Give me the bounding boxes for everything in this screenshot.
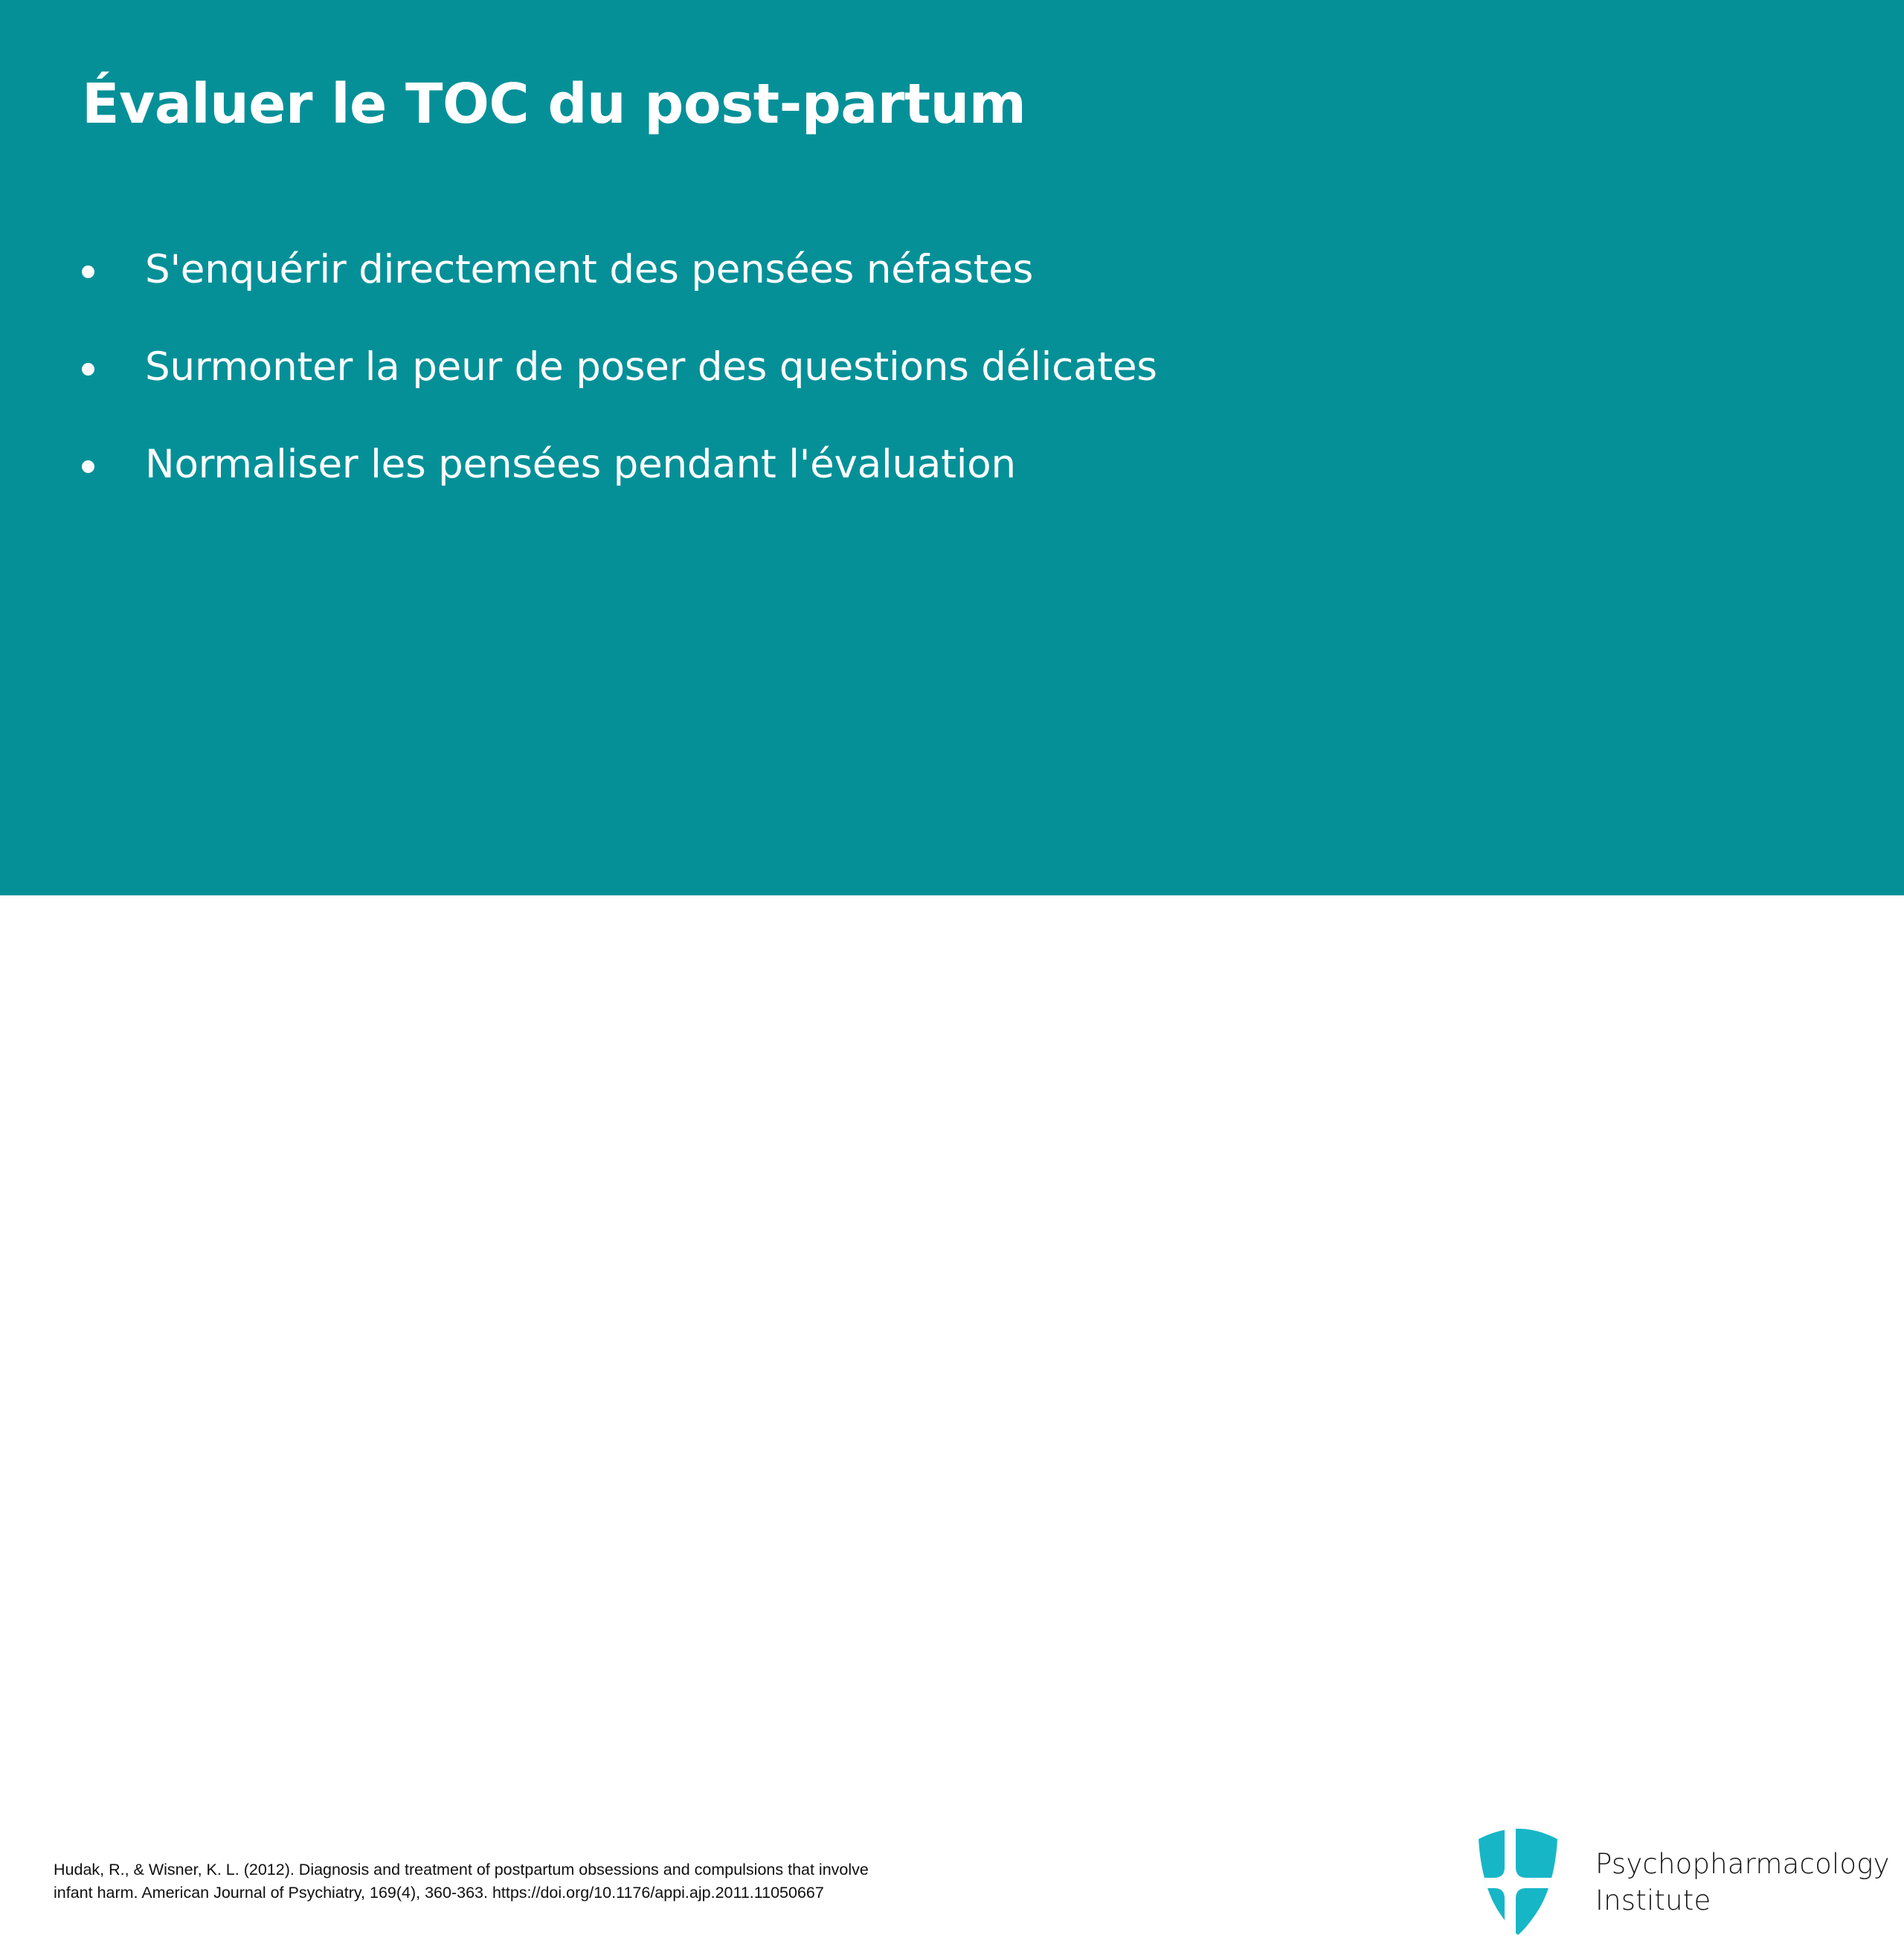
bullet-dot-icon (82, 363, 94, 376)
page-title: Évaluer le TOC du post-partum (82, 73, 1718, 136)
citation-line-1: Hudak, R., & Wisner, K. L. (2012). Diagn… (54, 1858, 1050, 1881)
citation-reference: Hudak, R., & Wisner, K. L. (2012). Diagn… (54, 1858, 1050, 1905)
brand-name-line-1: Psychopharmacology (1595, 1846, 1890, 1882)
slide-footer: Hudak, R., & Wisner, K. L. (2012). Diagn… (0, 895, 1904, 1071)
citation-line-2: infant harm. American Journal of Psychia… (54, 1881, 1050, 1905)
list-item: Normaliser les pensées pendant l'évaluat… (82, 440, 1718, 538)
shield-icon (1476, 1829, 1560, 1936)
brand-name-line-2: Institute (1595, 1882, 1890, 1919)
bullet-item-label: Normaliser les pensées pendant l'évaluat… (145, 440, 1016, 489)
list-item: Surmonter la peur de poser des questions… (82, 343, 1718, 440)
bullet-dot-icon (82, 460, 94, 473)
brand-wordmark: Psychopharmacology Institute (1595, 1846, 1890, 1919)
presentation-slide: Évaluer le TOC du post-partum S'enquérir… (0, 0, 1904, 1071)
bullet-list: S'enquérir directement des pensées néfas… (82, 245, 1718, 538)
bullet-item-label: Surmonter la peur de poser des questions… (145, 343, 1157, 392)
brand-logo: Psychopharmacology Institute (1476, 1826, 1878, 1938)
bullet-item-label: S'enquérir directement des pensées néfas… (145, 245, 1033, 294)
list-item: S'enquérir directement des pensées néfas… (82, 245, 1718, 343)
bullet-dot-icon (82, 265, 94, 278)
slide-content-panel: Évaluer le TOC du post-partum S'enquérir… (0, 0, 1904, 895)
